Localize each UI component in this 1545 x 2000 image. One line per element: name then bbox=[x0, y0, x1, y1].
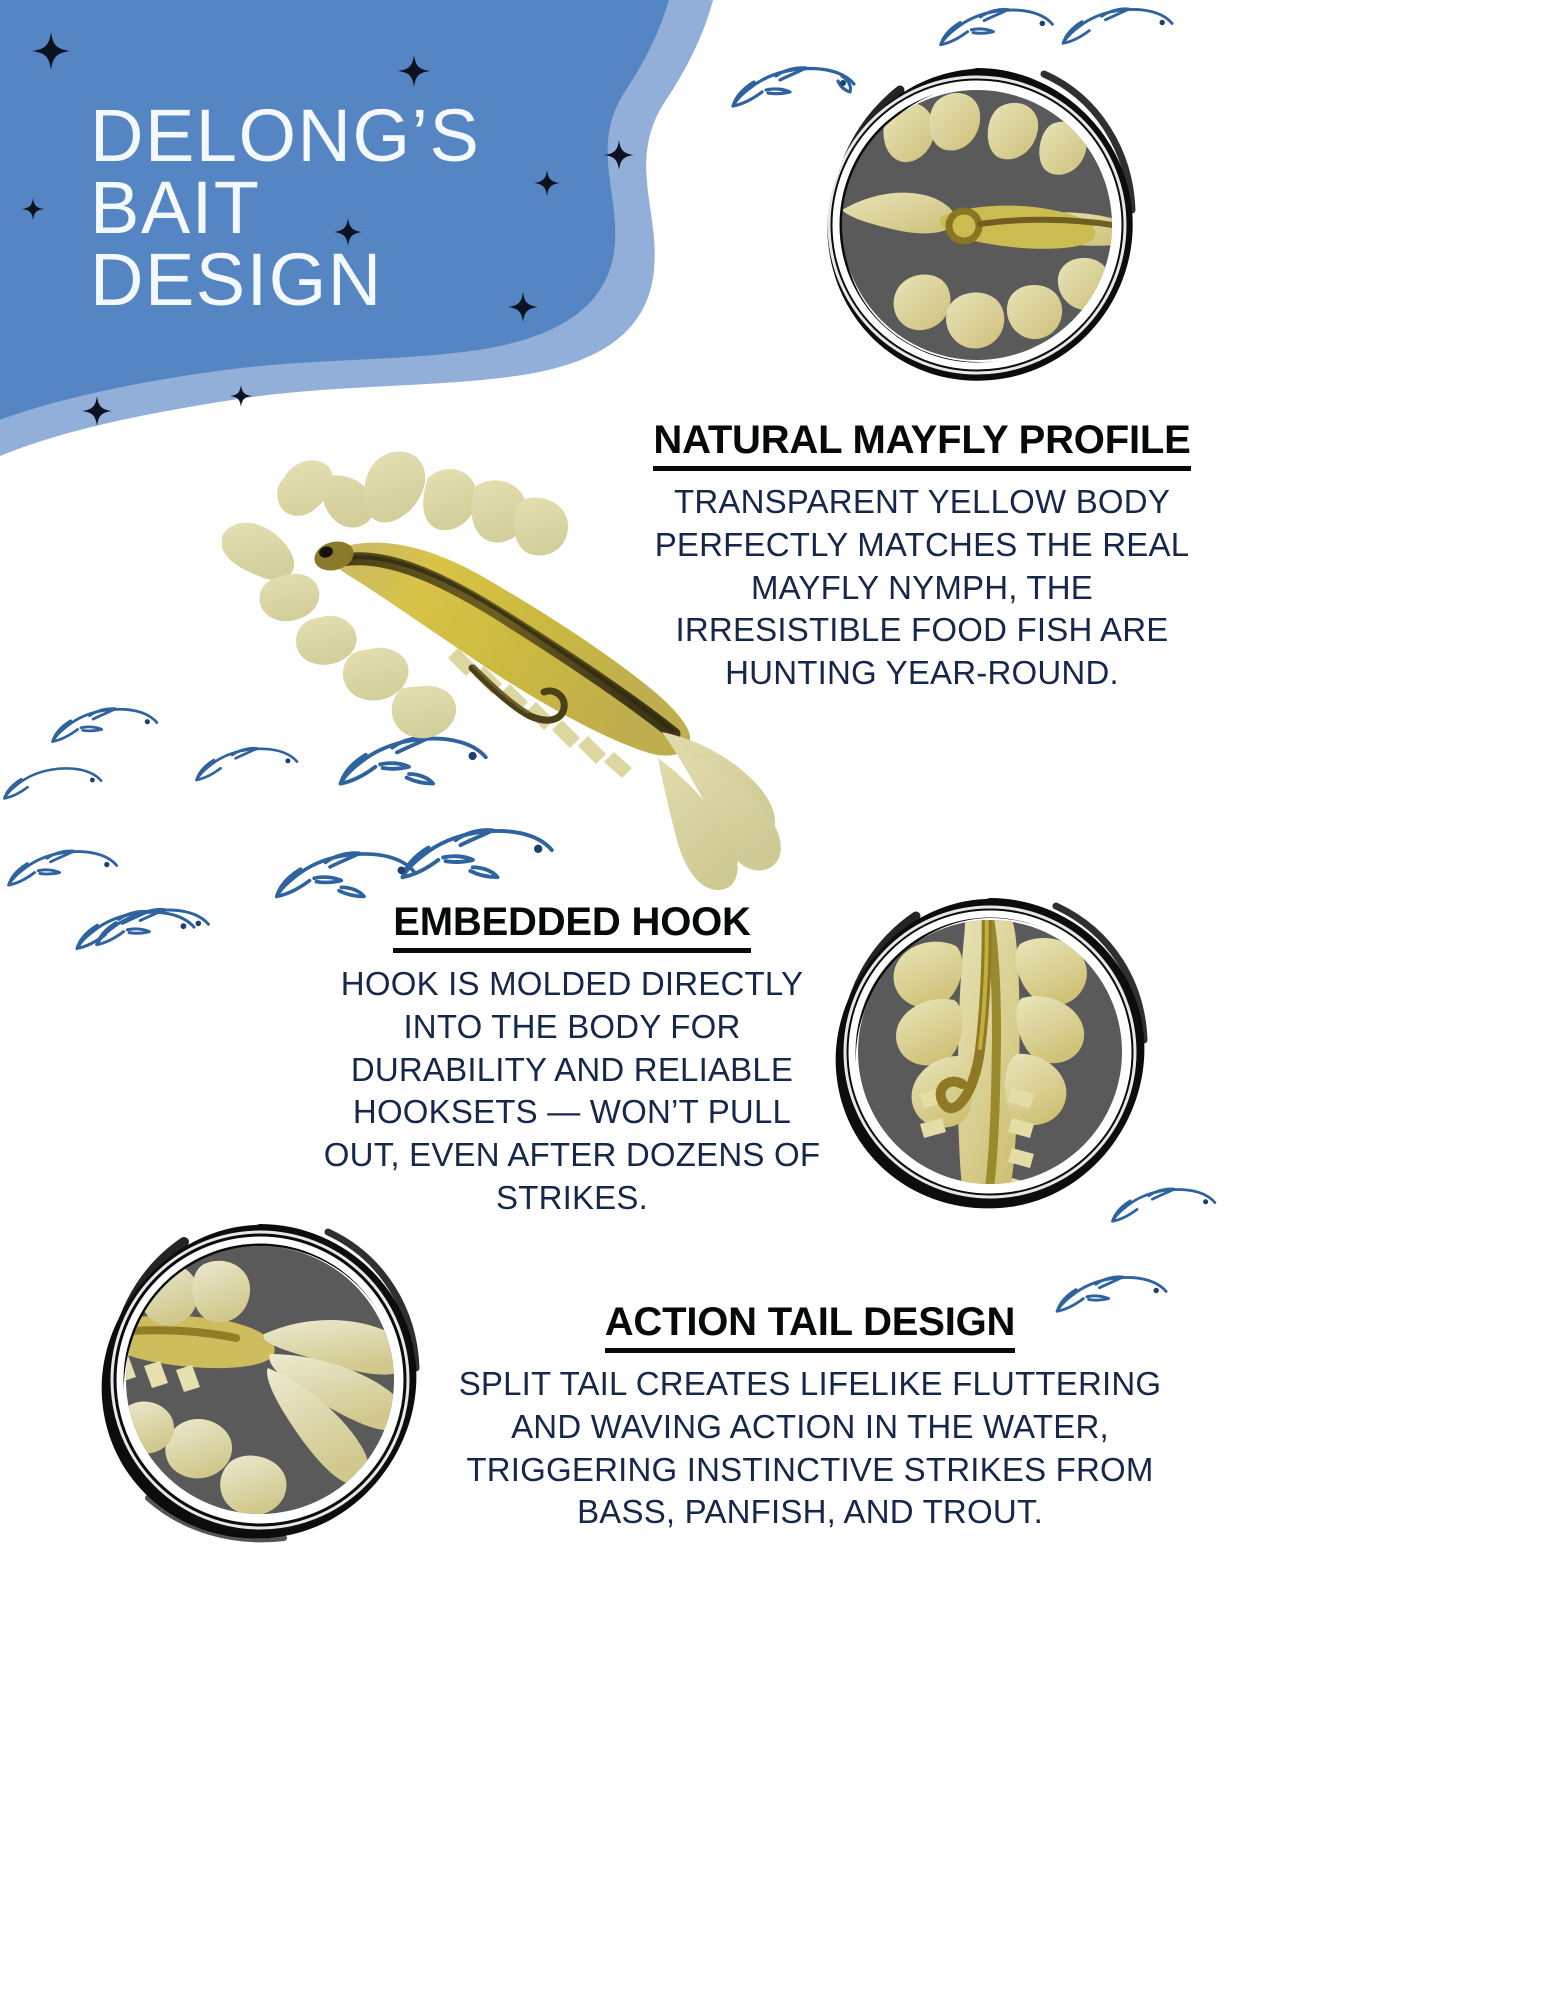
feature-block-natural-mayfly-profile: NATURAL MAYFLY PROFILE TRANSPARENT YELLO… bbox=[638, 418, 1206, 695]
fish-icon bbox=[2, 760, 106, 808]
sparkle-icon bbox=[230, 385, 252, 407]
sparkle-icon bbox=[22, 198, 44, 220]
sparkle-icon bbox=[82, 396, 112, 426]
fish-icon bbox=[50, 700, 162, 752]
feature-heading: ACTION TAIL DESIGN bbox=[605, 1300, 1015, 1353]
poster-canvas: DELONG’S BAIT DESIGN bbox=[0, 0, 1545, 2000]
fish-icon bbox=[74, 902, 200, 960]
feature-block-embedded-hook: EMBEDDED HOOK HOOK IS MOLDED DIRECTLY IN… bbox=[322, 900, 822, 1220]
sparkle-icon bbox=[32, 32, 70, 70]
feature-body: HOOK IS MOLDED DIRECTLY INTO THE BODY FO… bbox=[322, 963, 822, 1220]
feature-body: TRANSPARENT YELLOW BODY PERFECTLY MATCHE… bbox=[638, 481, 1206, 695]
feature-block-action-tail-design: ACTION TAIL DESIGN SPLIT TAIL CREATES LI… bbox=[440, 1300, 1180, 1534]
feature-photo-2 bbox=[820, 880, 1150, 1220]
title-line-1: DELONG’S bbox=[90, 100, 710, 172]
page-title: DELONG’S BAIT DESIGN bbox=[90, 100, 710, 315]
title-line-2: BAIT bbox=[90, 172, 710, 244]
fish-icon bbox=[6, 842, 122, 896]
feature-photo-3 bbox=[88, 1208, 428, 1548]
sparkle-icon bbox=[398, 55, 430, 87]
feature-heading: EMBEDDED HOOK bbox=[393, 900, 750, 953]
feature-body: SPLIT TAIL CREATES LIFELIKE FLUTTERING A… bbox=[440, 1363, 1180, 1535]
feature-heading: NATURAL MAYFLY PROFILE bbox=[653, 418, 1190, 471]
title-line-3: DESIGN bbox=[90, 244, 710, 316]
feature-photo-1 bbox=[812, 20, 1142, 410]
